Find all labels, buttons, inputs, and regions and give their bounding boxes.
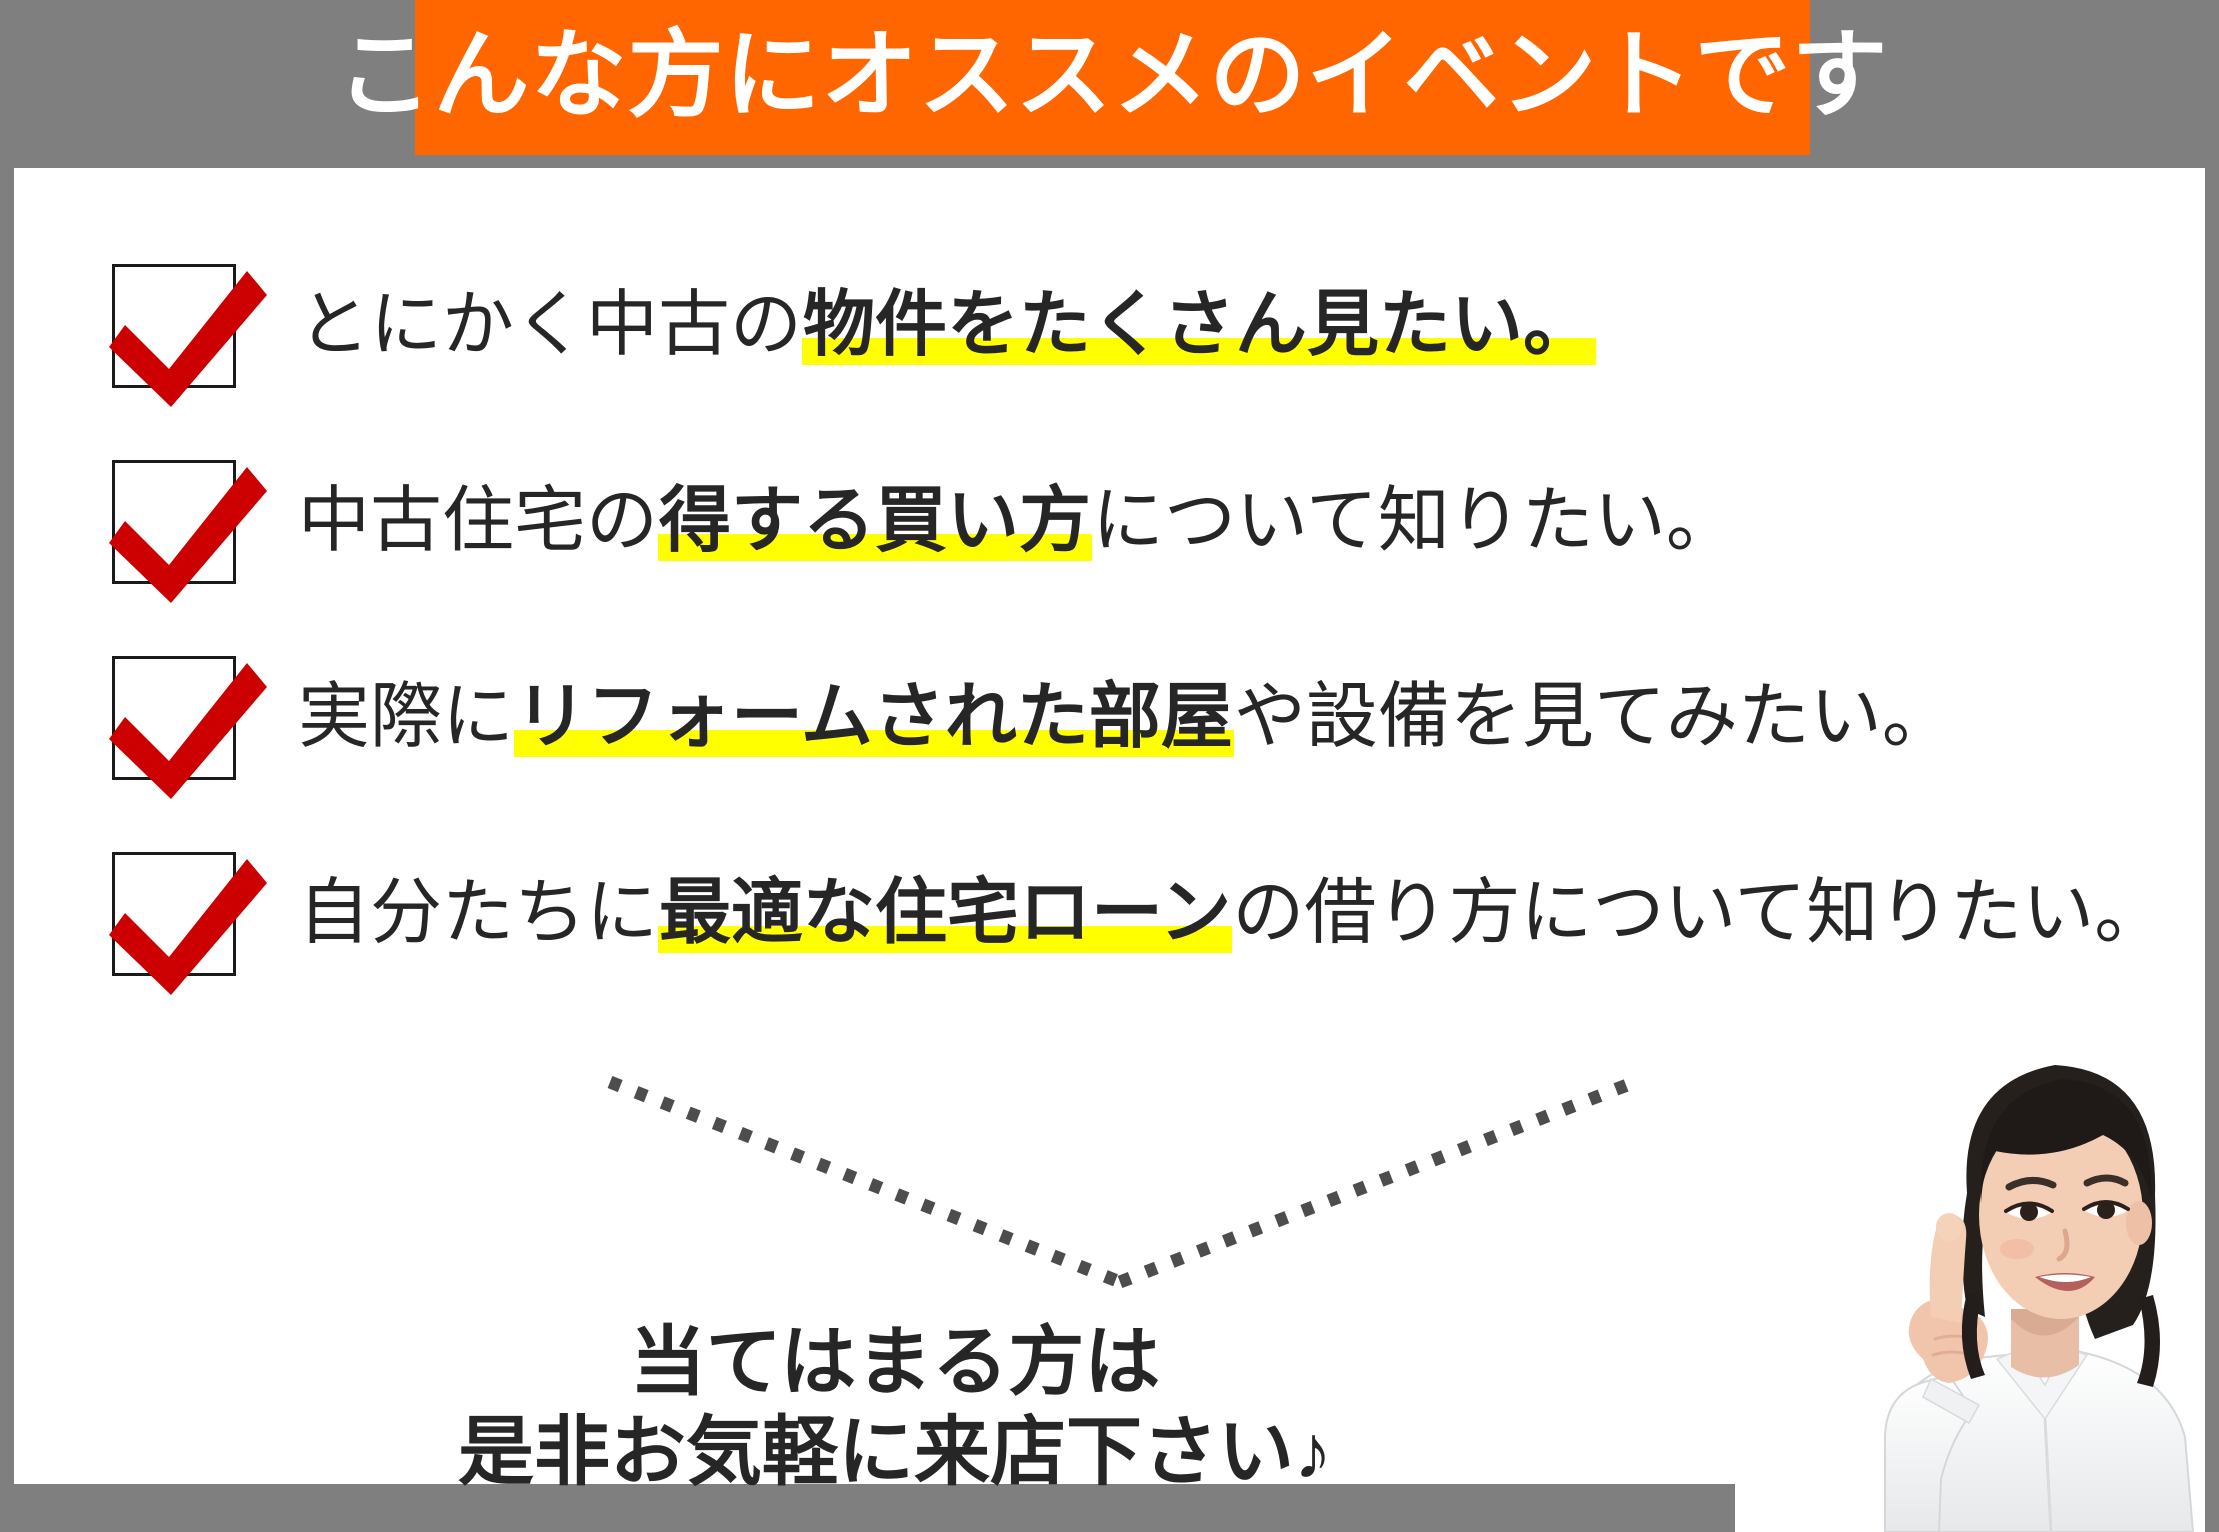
frame-right-band (2205, 0, 2219, 1532)
checkbox-1[interactable] (112, 264, 236, 388)
text-plain-before: 中古住宅の (298, 481, 658, 561)
text-highlight: リフォームされた部屋 (514, 677, 1234, 757)
list-item-text: 中古住宅の得する買い方について知りたい。 (298, 484, 1738, 560)
checkbox-3[interactable] (112, 656, 236, 780)
cta-line-2: 是非お気軽に来店下さい♪ (0, 1408, 1790, 1498)
poster-root: こんな方にオススメのイベントです とにかく中古の物件をたくさん見たい。 中古住宅… (0, 0, 2219, 1532)
list-item: 自分たちに最適な住宅ローンの借り方について知りたい。 (112, 816, 2112, 1012)
text-plain-before: とにかく中古の (298, 285, 802, 365)
frame-left-band (0, 0, 14, 1532)
text-plain-after: や設備を見てみたい。 (1234, 677, 1954, 757)
red-checkmark-icon (99, 639, 267, 807)
red-checkmark-icon (99, 835, 267, 1003)
cta-block: 当てはまる方は 是非お気軽に来店下さい♪ (0, 1318, 1790, 1497)
text-highlight: 物件をたくさん見たい。 (802, 285, 1596, 365)
woman-pointing-photo (1735, 987, 2205, 1532)
checkbox-2[interactable] (112, 460, 236, 584)
text-highlight: 最適な住宅ローン (658, 873, 1232, 953)
cta-line-1: 当てはまる方は (0, 1318, 1790, 1408)
list-item-text: とにかく中古の物件をたくさん見たい。 (298, 288, 1596, 364)
list-item: とにかく中古の物件をたくさん見たい。 (112, 228, 2112, 424)
text-plain-before: 実際に (298, 677, 514, 757)
header-banner: こんな方にオススメのイベントです (415, 0, 1810, 155)
red-checkmark-icon (99, 443, 267, 611)
checklist: とにかく中古の物件をたくさん見たい。 中古住宅の得する買い方について知りたい。 … (112, 228, 2112, 1012)
text-plain-before: 自分たちに (298, 873, 658, 953)
list-item: 実際にリフォームされた部屋や設備を見てみたい。 (112, 620, 2112, 816)
list-item-text: 自分たちに最適な住宅ローンの借り方について知りたい。 (298, 876, 2166, 952)
page-title: こんな方にオススメのイベントです (337, 28, 1889, 124)
list-item: 中古住宅の得する買い方について知りたい。 (112, 424, 2112, 620)
red-checkmark-icon (99, 247, 267, 415)
list-item-text: 実際にリフォームされた部屋や設備を見てみたい。 (298, 680, 1954, 756)
text-plain-after: について知りたい。 (1092, 481, 1738, 561)
dotted-v-arrow-icon (590, 1060, 1660, 1290)
checkbox-4[interactable] (112, 852, 236, 976)
text-highlight: 得する買い方 (658, 481, 1092, 561)
text-plain-after: の借り方について知りたい。 (1232, 873, 2166, 953)
arrow-container (590, 1060, 1660, 1290)
